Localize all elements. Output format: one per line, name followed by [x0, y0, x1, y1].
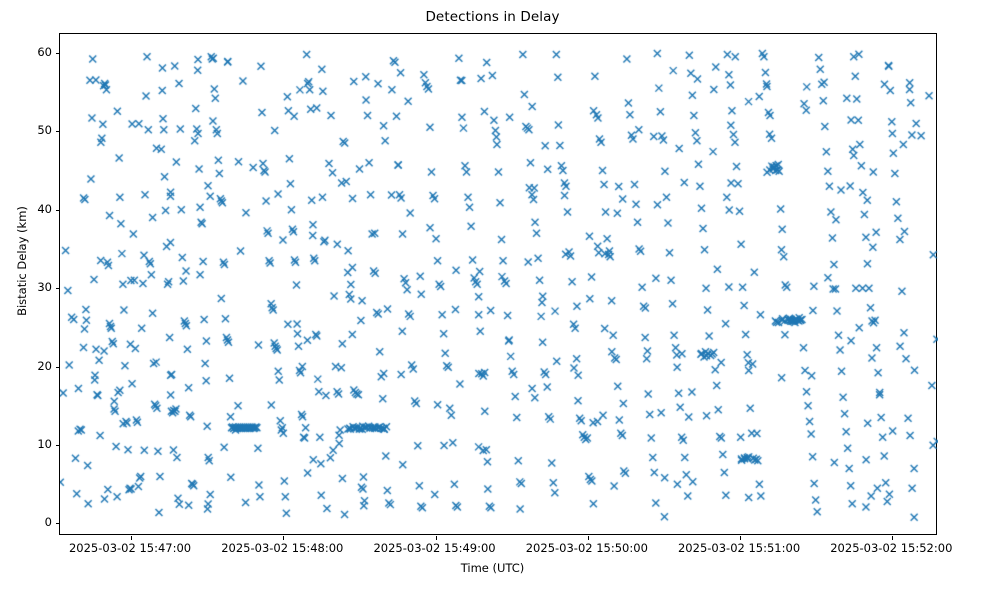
- x-tick-mark: [740, 536, 741, 540]
- x-tick-label: 2025-03-02 15:49:00: [373, 541, 495, 555]
- y-tick-label: 50: [37, 123, 52, 137]
- x-tick-label: 2025-03-02 15:52:00: [830, 541, 952, 555]
- plot-axes: [59, 33, 937, 535]
- y-tick-mark: [56, 367, 60, 368]
- y-axis-label: Bistatic Delay (km): [15, 151, 29, 371]
- matplotlib-figure: Detections in Delay 0102030405060 2025-0…: [0, 0, 985, 590]
- x-tick-mark: [588, 536, 589, 540]
- x-tick-label: 2025-03-02 15:50:00: [526, 541, 648, 555]
- x-tick-labels: 2025-03-02 15:47:002025-03-02 15:48:0020…: [59, 541, 937, 559]
- y-tick-mark: [56, 53, 60, 54]
- scatter-plot-canvas: [60, 34, 938, 536]
- y-tick-label: 30: [37, 280, 52, 294]
- y-tick-mark: [56, 131, 60, 132]
- y-tick-mark: [56, 445, 60, 446]
- x-tick-mark: [283, 536, 284, 540]
- x-axis-label: Time (UTC): [0, 561, 985, 575]
- y-tick-label: 0: [45, 515, 52, 529]
- x-tick-label: 2025-03-02 15:51:00: [678, 541, 800, 555]
- y-tick-label: 20: [37, 359, 52, 373]
- x-tick-mark: [436, 536, 437, 540]
- y-tick-label: 40: [37, 202, 52, 216]
- x-tick-label: 2025-03-02 15:48:00: [221, 541, 343, 555]
- y-tick-label: 60: [37, 45, 52, 59]
- y-tick-mark: [56, 210, 60, 211]
- x-tick-mark: [892, 536, 893, 540]
- y-tick-mark: [56, 523, 60, 524]
- y-tick-mark: [56, 288, 60, 289]
- chart-title: Detections in Delay: [0, 9, 985, 25]
- y-tick-label: 10: [37, 437, 52, 451]
- x-tick-label: 2025-03-02 15:47:00: [69, 541, 191, 555]
- x-tick-mark: [131, 536, 132, 540]
